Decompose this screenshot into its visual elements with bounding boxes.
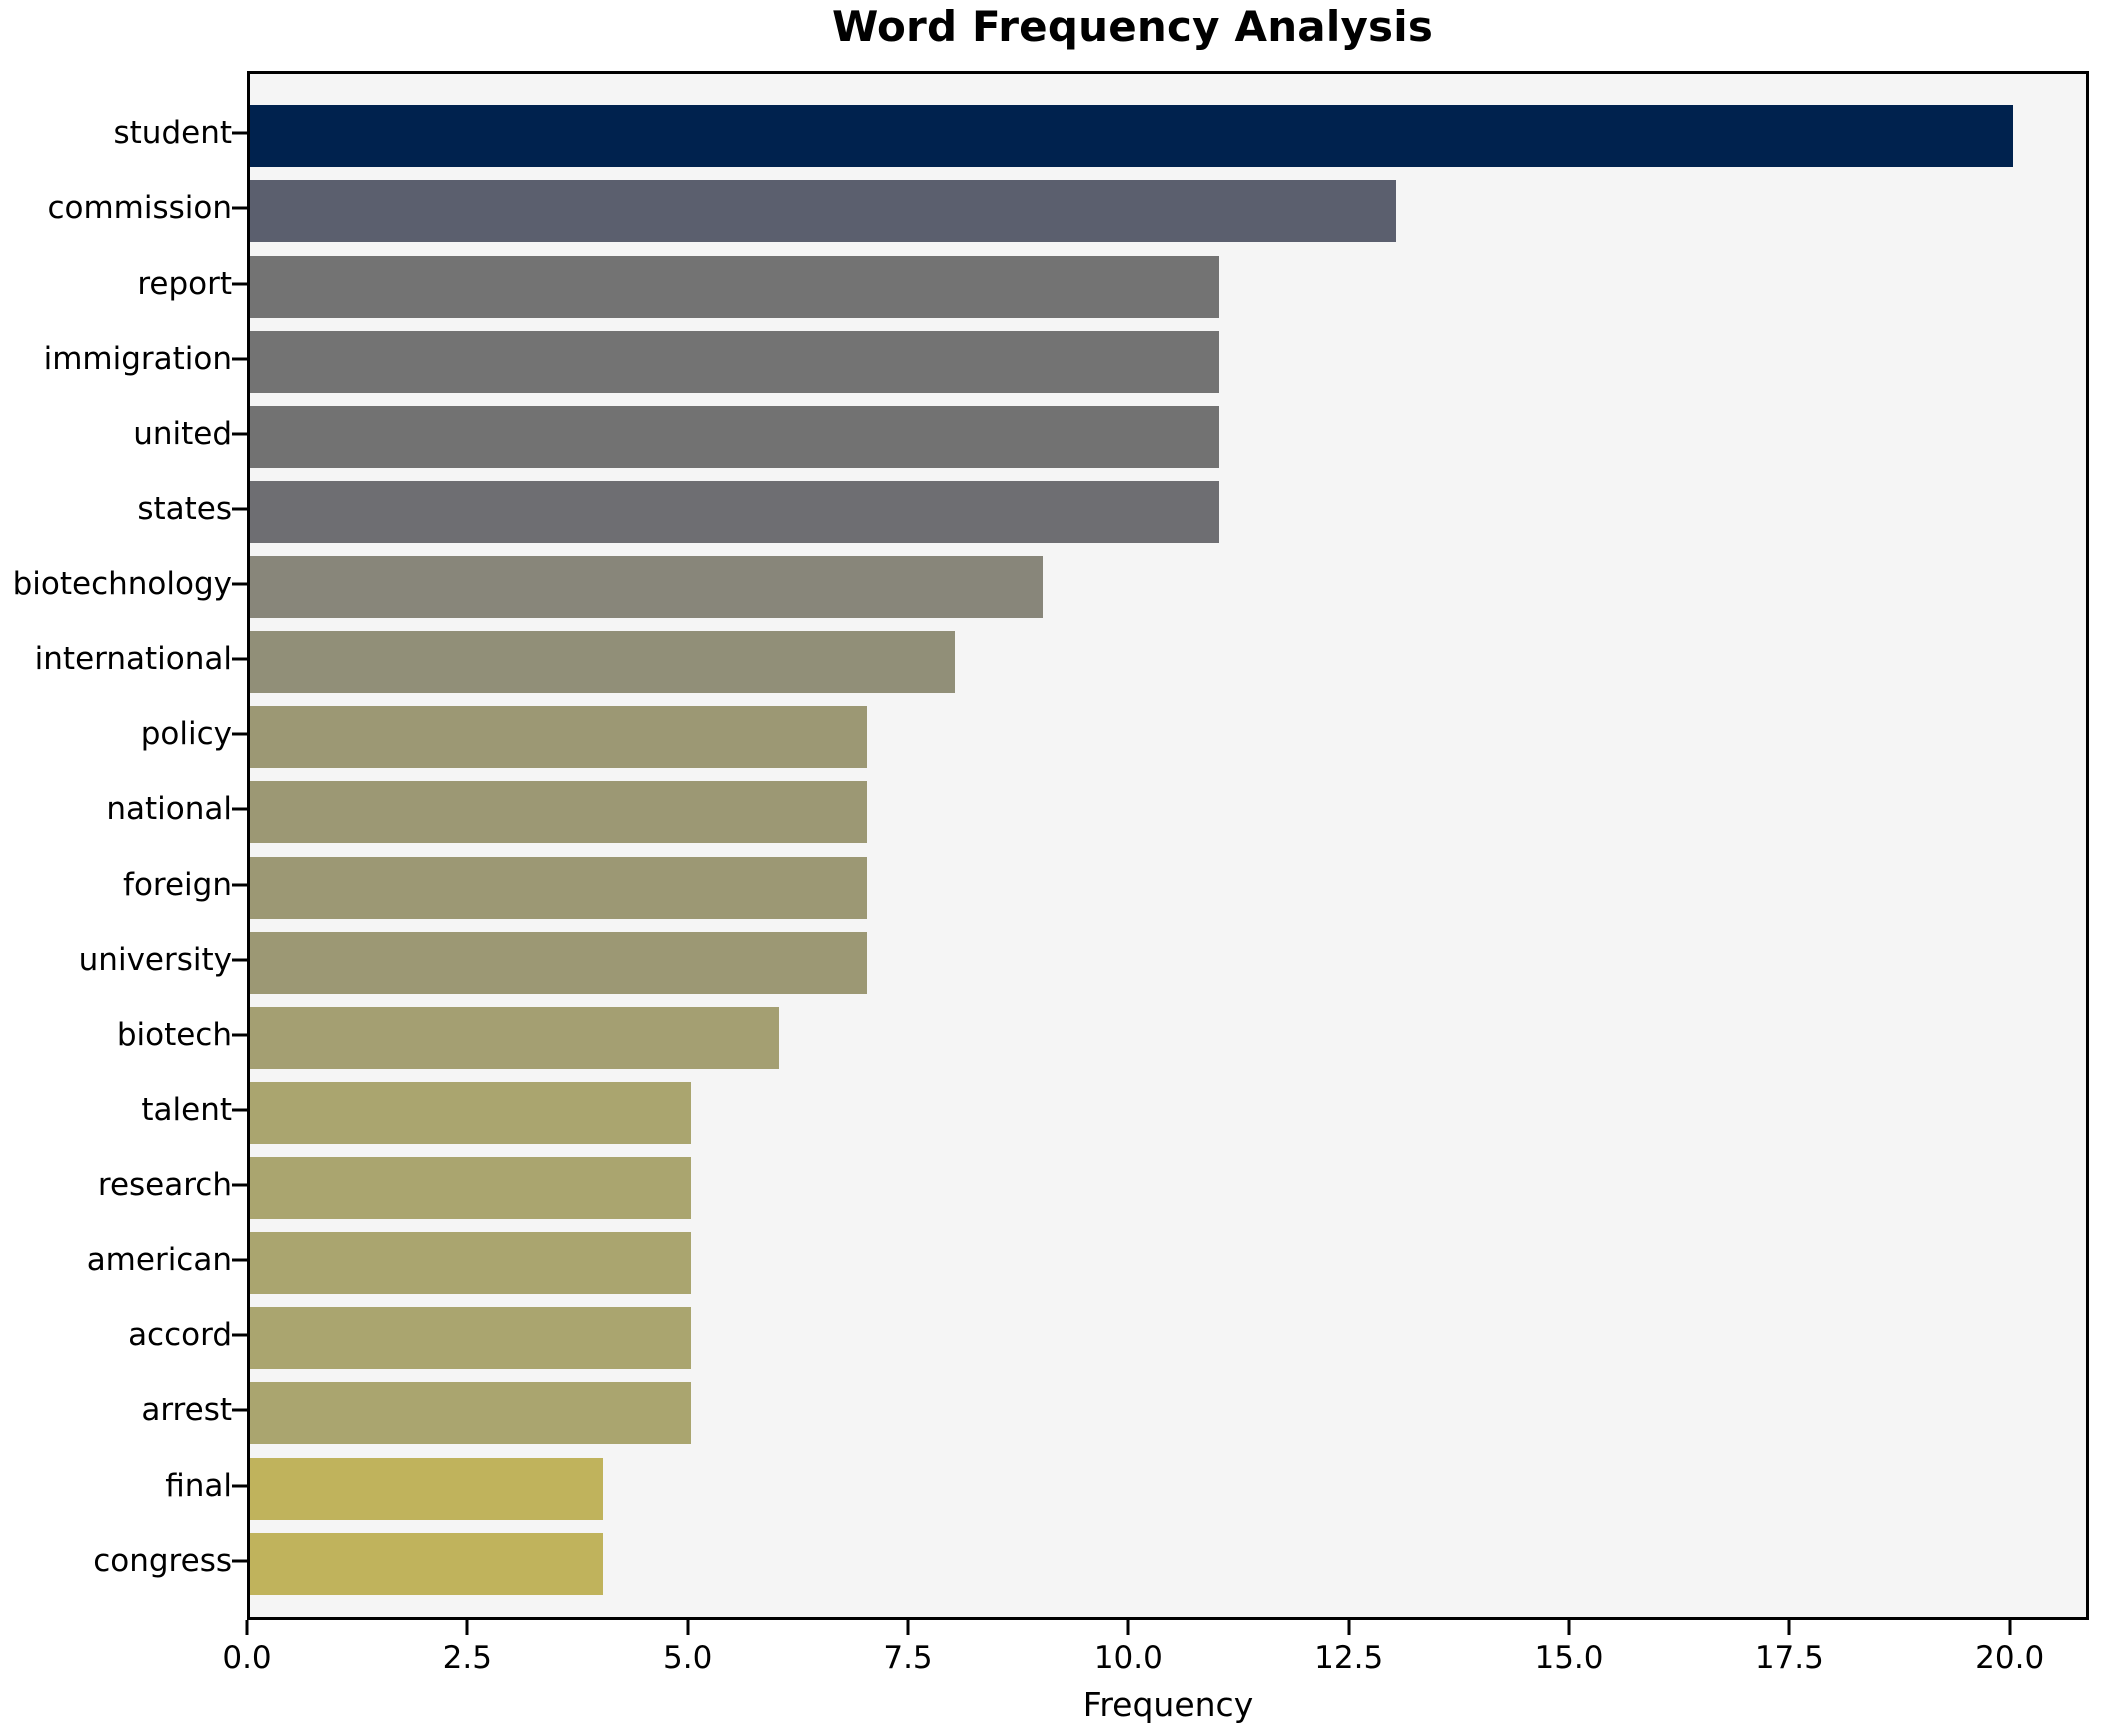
y-tick-mark-university [232,958,247,961]
bar-biotech [250,1007,779,1069]
y-tick-mark-commission [232,207,247,210]
bar-biotechnology [250,556,1043,618]
y-tick-mark-arrest [232,1409,247,1412]
y-tick-label-immigration: immigration [44,342,232,376]
y-tick-mark-biotech [232,1033,247,1036]
plot-area [247,71,2089,1620]
bar-american [250,1232,691,1294]
y-tick-mark-accord [232,1334,247,1337]
y-tick-label-arrest: arrest [141,1393,232,1427]
y-tick-label-university: university [79,943,232,977]
y-axis: studentcommissionreportimmigrationunited… [0,71,232,1620]
x-tick-mark-5.0 [686,1620,689,1635]
y-tick-label-policy: policy [141,717,232,751]
x-tick-label-15.0: 15.0 [1534,1640,1603,1676]
bars-layer [250,74,2086,1617]
bar-commission [250,180,1396,242]
bar-congress [250,1533,603,1595]
bar-report [250,256,1219,318]
y-tick-label-foreign: foreign [123,868,232,902]
x-tick-label-10.0: 10.0 [1094,1640,1163,1676]
y-tick-mark-student [232,132,247,135]
x-tick-mark-0.0 [246,1620,249,1635]
x-tick-label-7.5: 7.5 [883,1640,932,1676]
bar-final [250,1458,603,1520]
y-tick-mark-united [232,432,247,435]
y-tick-label-accord: accord [128,1318,232,1352]
bar-immigration [250,331,1219,393]
y-tick-label-united: united [133,417,232,451]
y-tick-label-research: research [98,1168,232,1202]
y-tick-mark-policy [232,733,247,736]
y-tick-label-final: final [165,1469,232,1503]
x-tick-mark-17.5 [1788,1620,1791,1635]
bar-national [250,781,867,843]
x-axis: Frequency 0.02.55.07.510.012.515.017.520… [247,1620,2089,1722]
y-tick-mark-final [232,1484,247,1487]
bar-talent [250,1082,691,1144]
y-tick-label-biotechnology: biotechnology [13,567,232,601]
x-tick-label-0.0: 0.0 [222,1640,271,1676]
y-tick-label-international: international [35,642,232,676]
y-tick-mark-biotechnology [232,583,247,586]
y-tick-mark-states [232,507,247,510]
y-tick-mark-congress [232,1559,247,1562]
page-title: Word Frequency Analysis [247,2,2018,52]
bar-united [250,406,1219,468]
y-tick-mark-foreign [232,883,247,886]
bar-international [250,631,955,693]
bar-policy [250,706,867,768]
x-tick-mark-20.0 [2008,1620,2011,1635]
y-tick-mark-immigration [232,357,247,360]
y-tick-mark-research [232,1184,247,1187]
bar-university [250,932,867,994]
y-tick-mark-report [232,282,247,285]
bar-student [250,105,2013,167]
x-tick-label-2.5: 2.5 [443,1640,492,1676]
y-tick-label-american: american [87,1243,232,1277]
x-tick-label-5.0: 5.0 [663,1640,712,1676]
y-tick-label-report: report [137,267,232,301]
bar-states [250,481,1219,543]
y-tick-label-congress: congress [93,1544,232,1578]
y-tick-label-student: student [113,116,232,150]
bar-research [250,1157,691,1219]
x-tick-mark-7.5 [907,1620,910,1635]
x-tick-label-17.5: 17.5 [1755,1640,1824,1676]
word-frequency-chart-figure: Word Frequency Analysis studentcommissio… [0,0,2125,1722]
x-tick-mark-12.5 [1347,1620,1350,1635]
y-tick-label-national: national [106,792,232,826]
x-tick-mark-10.0 [1127,1620,1130,1635]
x-tick-label-12.5: 12.5 [1314,1640,1383,1676]
y-tick-mark-talent [232,1108,247,1111]
y-tick-label-states: states [137,492,232,526]
y-tick-label-commission: commission [47,191,232,225]
bar-foreign [250,857,867,919]
x-tick-label-20.0: 20.0 [1975,1640,2044,1676]
y-tick-mark-international [232,658,247,661]
y-tick-mark-american [232,1259,247,1262]
bar-accord [250,1307,691,1369]
bar-arrest [250,1382,691,1444]
y-tick-mark-national [232,808,247,811]
x-tick-mark-2.5 [466,1620,469,1635]
x-axis-label: Frequency [247,1686,2089,1724]
x-tick-mark-15.0 [1568,1620,1571,1635]
y-tick-label-biotech: biotech [117,1018,232,1052]
y-tick-label-talent: talent [141,1093,232,1127]
